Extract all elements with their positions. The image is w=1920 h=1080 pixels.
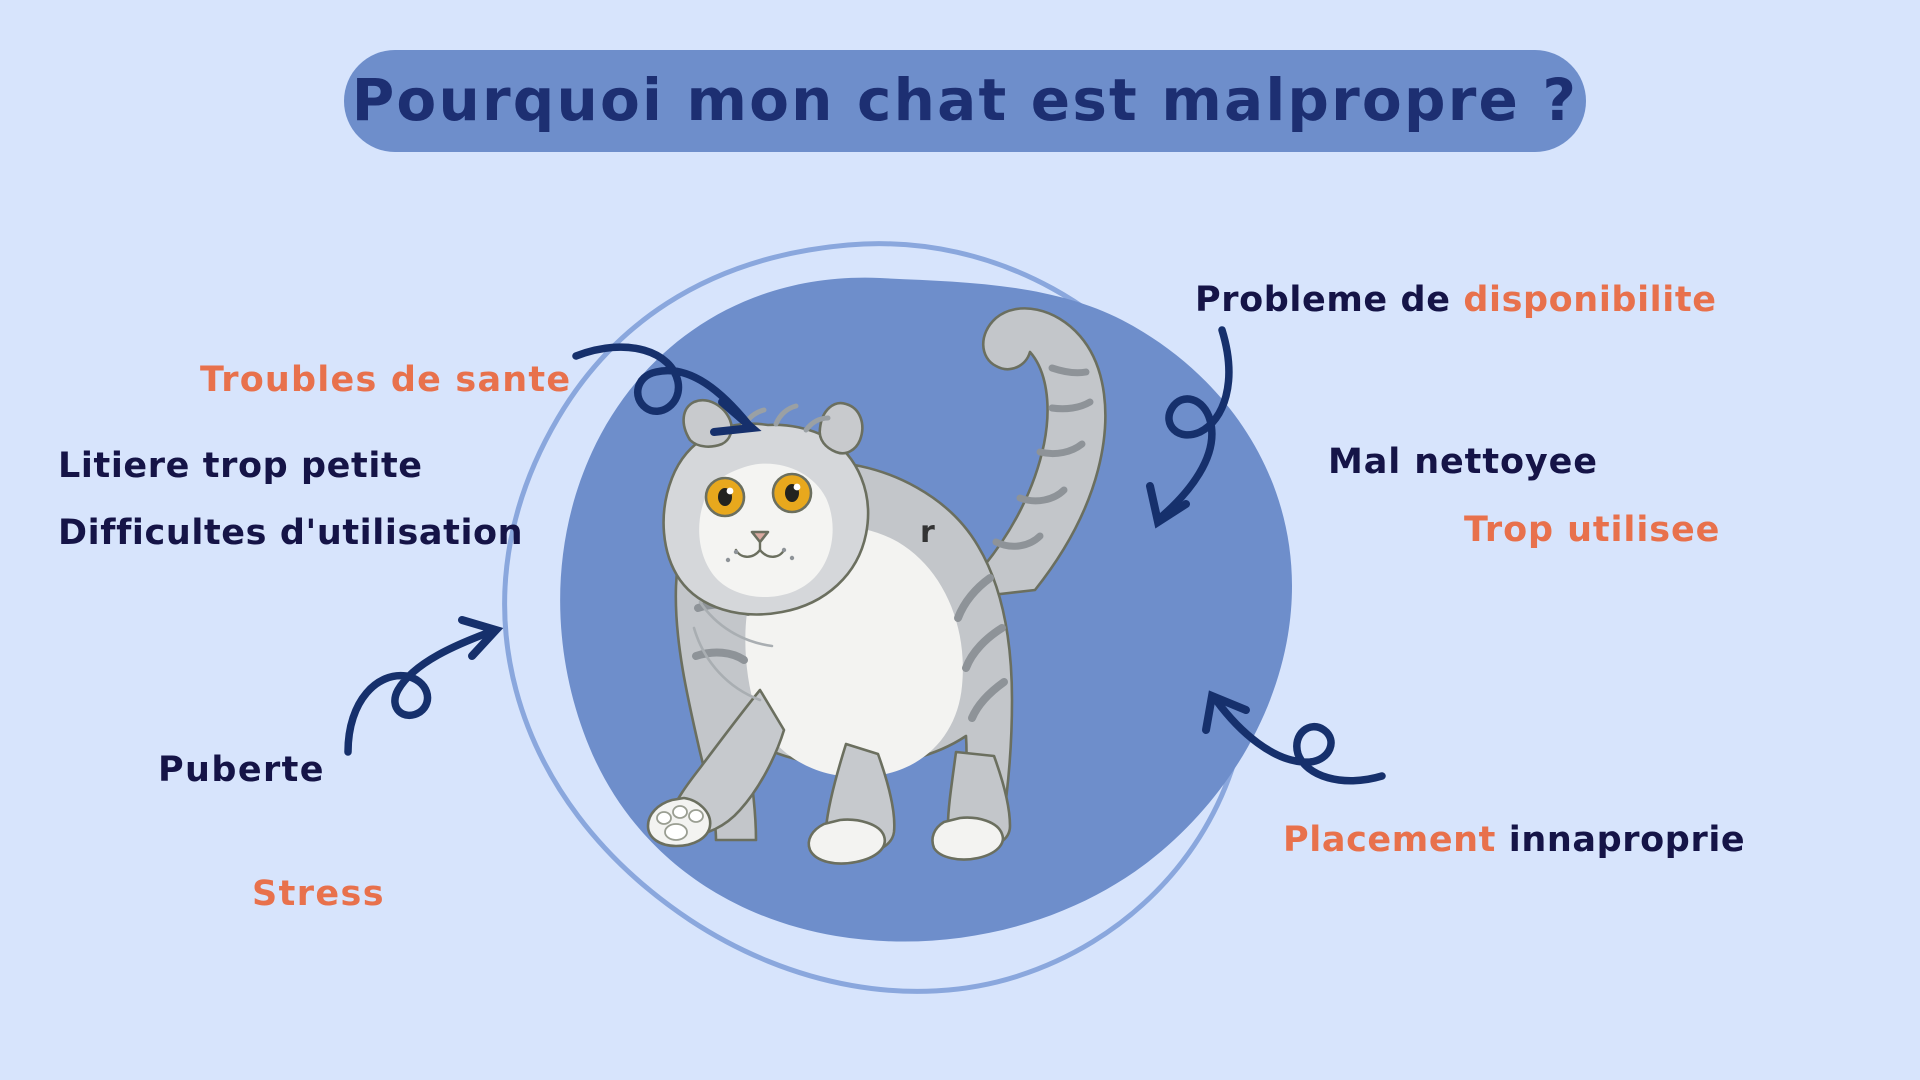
label-probleme-prefix: Probleme de	[1195, 280, 1463, 320]
label-difficultes-utilisation: Difficultes d'utilisation	[58, 515, 523, 553]
page-title-banner: Pourquoi mon chat est malpropre ?	[344, 50, 1586, 152]
page-title: Pourquoi mon chat est malpropre ?	[352, 71, 1579, 129]
label-stress: Stress	[252, 876, 385, 914]
label-mal-nettoyee: Mal nettoyee	[1328, 444, 1598, 482]
label-placement-innaproprie: Placement innaproprie	[1283, 822, 1745, 860]
arrow-placement	[1206, 696, 1382, 781]
label-trop-utilisee: Trop utilisee	[1464, 512, 1720, 550]
arrow-troubles-de-sante	[576, 347, 752, 432]
label-puberte: Puberte	[158, 752, 325, 790]
infographic-canvas: Pourquoi mon chat est malpropre ? Troubl…	[0, 0, 1920, 1080]
arrow-puberte	[348, 620, 496, 752]
label-litiere-trop-petite: Litiere trop petite	[58, 448, 423, 486]
label-placement-suffix: innaproprie	[1496, 820, 1745, 860]
label-troubles-de-sante: Troubles de sante	[200, 362, 571, 400]
label-probleme-accent: disponibilite	[1463, 280, 1716, 320]
watermark-mark: r	[920, 515, 935, 550]
label-probleme-de-disponibilite: Probleme de disponibilite	[1195, 282, 1717, 320]
arrow-disponibilite	[1150, 330, 1229, 522]
label-placement-accent: Placement	[1283, 820, 1496, 860]
